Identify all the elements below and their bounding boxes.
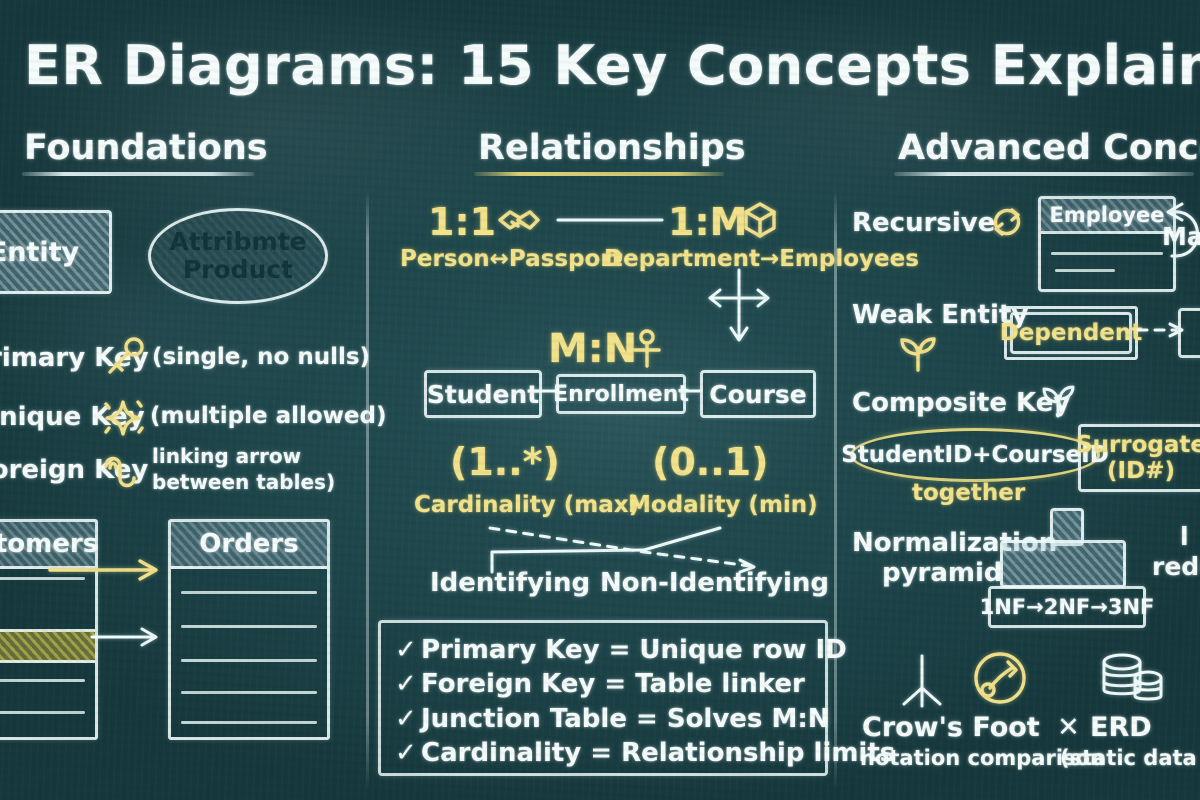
modality-value: (0..1) [652, 440, 769, 484]
crows-foot-icon [896, 654, 948, 712]
handshake-icon [496, 202, 540, 236]
normal-form-sequence-box: 1NF→2NF→3NF [988, 586, 1146, 628]
primary-key-note: (single, no nulls) [152, 344, 370, 370]
caption-person-passport: Person↔Passport [400, 246, 623, 272]
heading-rule-advanced [894, 172, 1194, 176]
junction-middle-box: Enrollment [556, 374, 686, 414]
junction-left-box: Student [424, 370, 542, 418]
database-cylinder-icon [1098, 650, 1168, 712]
box-icon [740, 198, 780, 238]
x-mark-icon: ✕ [1057, 712, 1080, 743]
identifying-label: Identifying [430, 568, 590, 598]
non-identifying-label: Non-Identifying [600, 568, 829, 598]
heading-rule-relationships [474, 172, 724, 176]
orders-table-title: Orders [171, 522, 327, 569]
entity-box: Entity [0, 210, 112, 294]
attribute-oval-line2: Product [183, 256, 293, 284]
junction-connector-right [680, 388, 704, 394]
fk-white-arrow-icon [90, 625, 180, 649]
fk-yellow-arrow-icon [48, 558, 178, 582]
orders-table: Orders [168, 519, 330, 740]
attribute-oval: Attribmte Product [148, 208, 328, 304]
ratio-1-m: 1:M [668, 200, 747, 244]
cardinality-value: (1..*) [450, 440, 560, 484]
relation-line-icon [556, 216, 666, 224]
section-heading-advanced: Advanced Concepts [898, 128, 1200, 168]
sprout-icon [896, 336, 940, 372]
pyramid-tier-middle [1000, 540, 1126, 588]
list-item: ✓Foreign Key = Table linker [395, 667, 825, 701]
ratio-m-n: M:N [548, 326, 637, 372]
column-divider-left [366, 190, 369, 790]
attribute-oval-line1: Attribmte [170, 228, 307, 256]
list-item: ✓Primary Key = Unique row ID [395, 633, 825, 667]
customers-table: Customers [0, 519, 98, 740]
employee-entity-box: Employee [1038, 196, 1176, 292]
column-divider-right [834, 190, 837, 790]
composite-key-sub: together [912, 480, 1025, 506]
section-heading-relationships: Relationships [478, 128, 746, 168]
modality-caption: Modality (min) [628, 492, 818, 518]
normalization-side-line2: redu [1152, 552, 1200, 581]
junction-right-box: Course [700, 370, 816, 418]
manager-label: Man [1162, 222, 1200, 251]
recursive-label: Recursive [852, 208, 995, 238]
surrogate-key-box: Surrogate (ID#) [1078, 424, 1200, 492]
ratio-1-1: 1:1 [428, 200, 496, 244]
summary-checklist: ✓Primary Key = Unique row ID ✓Foreign Ke… [378, 620, 828, 776]
cross-arrows-icon [690, 268, 800, 348]
erd-title: ERD [1090, 712, 1152, 743]
crows-foot-title: Crow's Foot ✕ [862, 712, 1080, 743]
weak-entity-target-box: E [1178, 308, 1200, 358]
composite-key-ellipse: StudentID+CourseID [850, 428, 1100, 482]
list-item: ✓Junction Table = Solves M:N [395, 702, 825, 736]
section-heading-foundations: Foundations [24, 128, 268, 168]
link-chain-icon [100, 450, 146, 496]
anchor-icon [630, 328, 664, 370]
recycle-loop-icon [988, 204, 1026, 240]
cardinality-caption: Cardinality (max) [414, 492, 639, 518]
heading-rule-foundations [22, 172, 254, 176]
normalization-side-line1: l [1180, 522, 1189, 551]
junction-connector-left [536, 388, 560, 394]
sparkle-icon [100, 396, 146, 440]
page-title: ER Diagrams: 15 Key Concepts Explained [24, 34, 1200, 97]
dependent-box: Dependent [1010, 312, 1132, 354]
composite-key-value: StudentID+CourseID [841, 442, 1109, 468]
list-item: ✓Cardinality = Relationship limits [395, 736, 825, 770]
foreign-key-note-line2: between tables) [152, 470, 335, 494]
unique-key-note: (multiple allowed) [150, 403, 386, 429]
crows-foot-alt-icon [968, 648, 1032, 712]
foreign-key-note-line1: linking arrow [152, 444, 301, 468]
erd-sub: (static data [1060, 746, 1197, 770]
checklist-items: ✓Primary Key = Unique row ID ✓Foreign Ke… [381, 623, 825, 770]
normalization-label-line2: pyramid [882, 558, 1003, 588]
key-icon [104, 336, 148, 378]
chalkboard-canvas: ER Diagrams: 15 Key Concepts Explained F… [0, 0, 1200, 800]
sprout-icon [1038, 384, 1078, 418]
